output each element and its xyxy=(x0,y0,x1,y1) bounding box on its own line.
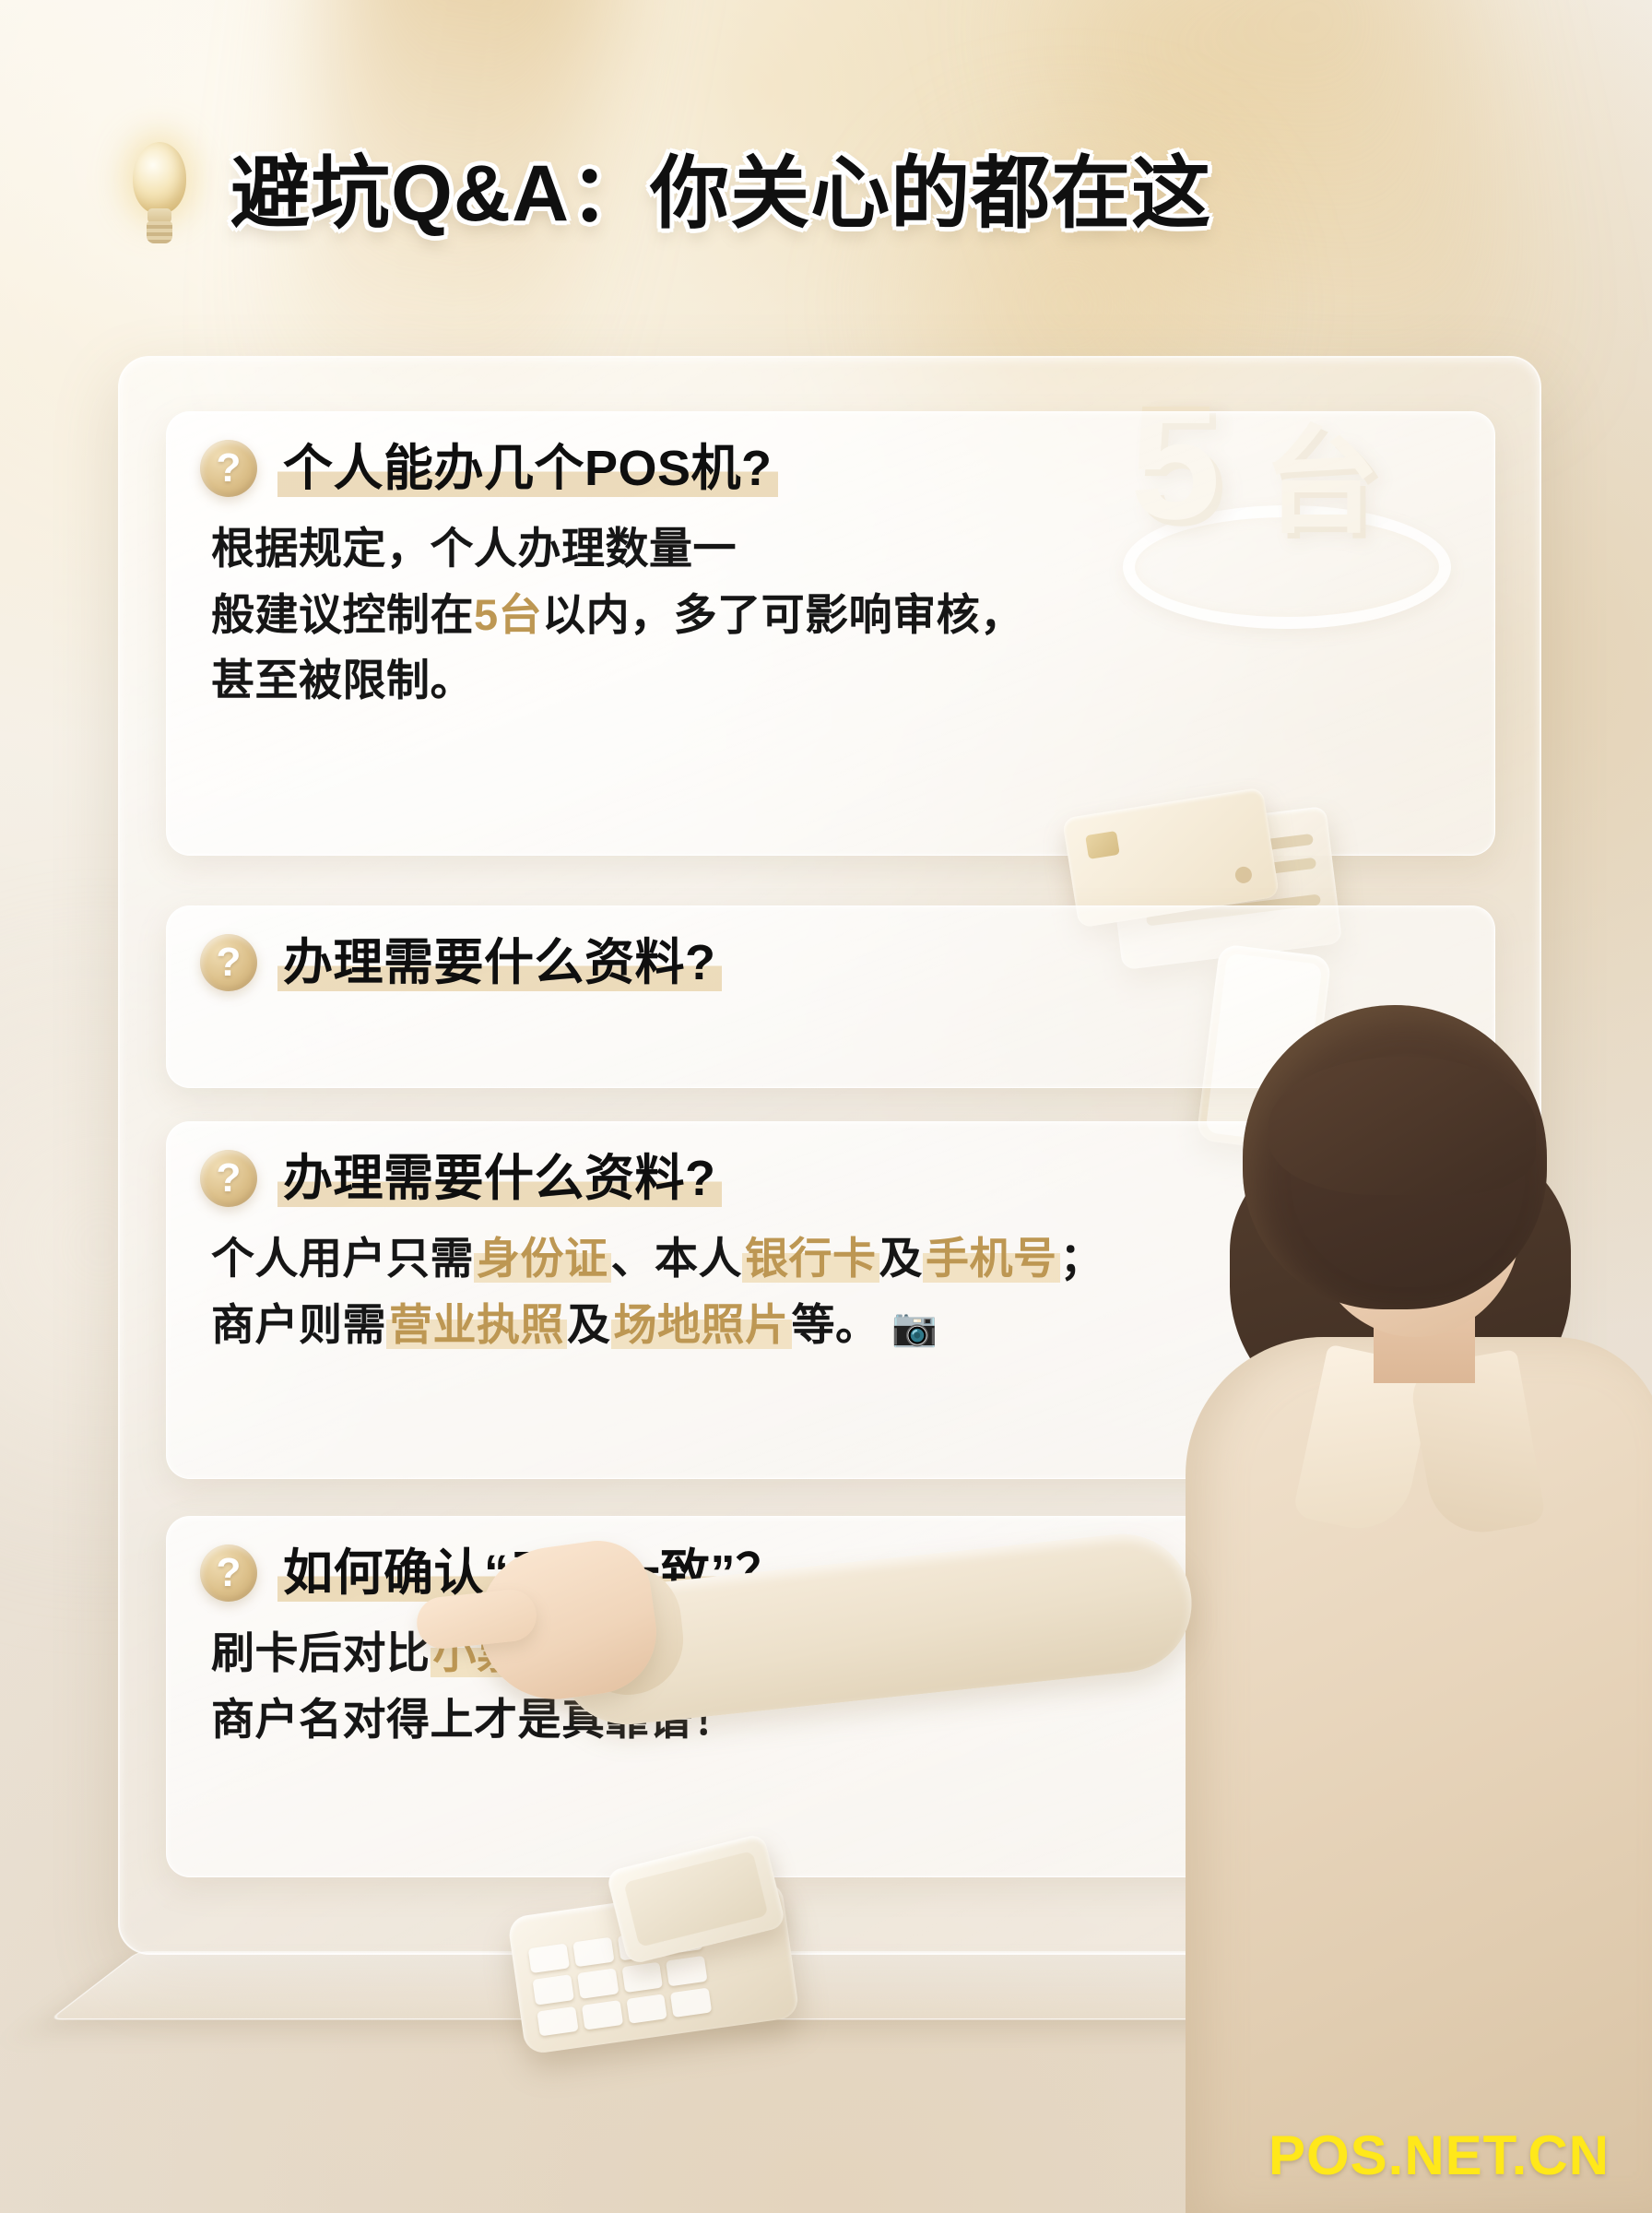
highlight-5tai: 5台 xyxy=(474,590,542,639)
page-title: 避坑Q&A：你关心的都在这 xyxy=(230,154,1211,233)
qa-card-1: ? 个人能办几个POS机? 根据规定，个人办理数量一 般建议控制在5台以内，多了… xyxy=(166,411,1495,856)
qa-line: 根据规定，个人办理数量一 xyxy=(211,515,1494,581)
question-mark-icon: ? xyxy=(200,934,257,991)
qa-line: 甚至被限制。 xyxy=(211,647,1494,713)
question-mark-icon: ? xyxy=(200,1544,257,1602)
qa-card-2-title: 办理需要什么资料? xyxy=(277,934,722,991)
poster-root: 避坑Q&A：你关心的都在这 5 台 ? 个人能办几个POS机? 根据规定，个人办… xyxy=(0,0,1652,2213)
lightbulb-icon xyxy=(120,138,199,249)
question-mark-icon: ? xyxy=(200,440,257,497)
highlight-business-license: 营业执照 xyxy=(386,1300,567,1349)
person-pointing-icon xyxy=(1005,996,1652,2213)
qa-card-3-title: 办理需要什么资料? xyxy=(277,1150,722,1207)
highlight-bank-card: 银行卡 xyxy=(742,1234,879,1283)
highlight-id-card: 身份证 xyxy=(474,1234,611,1283)
question-mark-icon: ? xyxy=(200,1150,257,1207)
page-header: 避坑Q&A：你关心的都在这 xyxy=(0,129,1652,258)
qa-card-1-body: 根据规定，个人办理数量一 般建议控制在5台以内，多了可影响审核， 甚至被限制。 xyxy=(211,515,1494,713)
highlight-site-photo: 场地照片 xyxy=(611,1300,792,1349)
watermark: POS.NET.CN xyxy=(1268,2124,1610,2187)
qa-line: 般建议控制在5台以内，多了可影响审核， xyxy=(211,582,1494,647)
camera-icon: 📷 xyxy=(891,1308,938,1348)
qa-card-1-title: 个人能办几个POS机? xyxy=(277,440,778,497)
qa-card-1-header: ? 个人能办几个POS机? xyxy=(167,412,1494,497)
qa-card-2-header: ? 办理需要什么资料? xyxy=(167,906,1494,991)
